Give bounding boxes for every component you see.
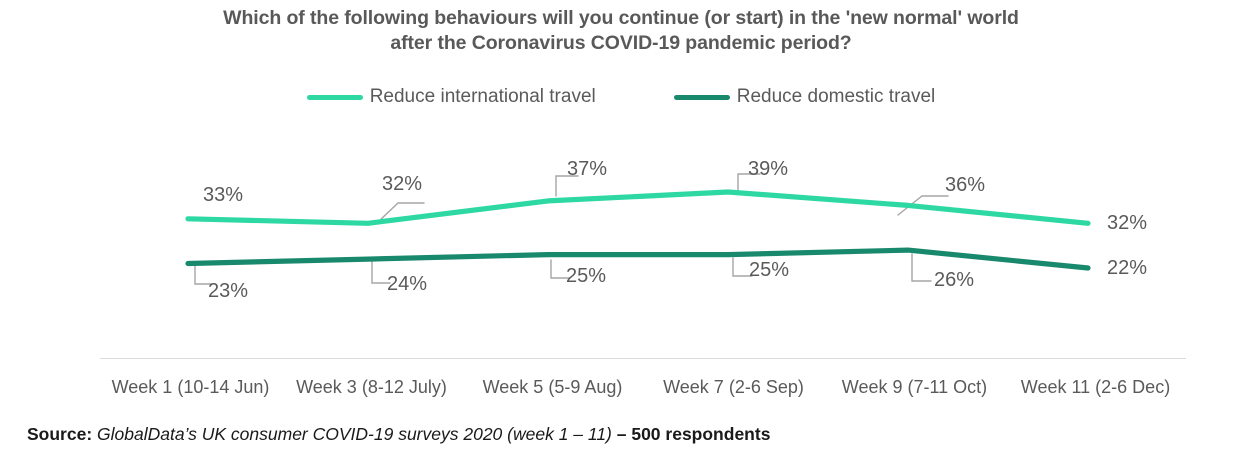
source-note: Source: GlobalData’s UK consumer COVID-1… xyxy=(27,422,770,446)
category-label-2: Week 5 (5-9 Aug) xyxy=(462,374,643,400)
legend-swatch-domestic xyxy=(674,95,730,100)
chart-root: Which of the following behaviours will y… xyxy=(0,0,1242,460)
data-label-domestic-3: 25% xyxy=(749,258,789,282)
data-label-international-0: 33% xyxy=(203,183,243,207)
axis-divider xyxy=(100,358,1186,359)
leader-line xyxy=(912,254,931,281)
legend-item-domestic[interactable]: Reduce domestic travel xyxy=(674,86,936,108)
category-label-1: Week 3 (8-12 July) xyxy=(281,374,462,400)
data-label-international-3: 39% xyxy=(748,157,788,181)
leader-line xyxy=(898,196,948,215)
category-axis: Week 1 (10-14 Jun)Week 3 (8-12 July)Week… xyxy=(100,374,1186,400)
legend-label-domestic: Reduce domestic travel xyxy=(737,86,936,108)
chart-title-line-2: after the Coronavirus COVID-19 pandemic … xyxy=(130,31,1112,56)
legend-label-international: Reduce international travel xyxy=(370,86,596,108)
category-label-3: Week 7 (2-6 Sep) xyxy=(643,374,824,400)
data-label-international-4: 36% xyxy=(945,173,985,197)
category-label-4: Week 9 (7-11 Oct) xyxy=(824,374,1005,400)
data-label-domestic-2: 25% xyxy=(566,264,606,288)
source-body: GlobalData’s UK consumer COVID-19 survey… xyxy=(92,424,617,444)
data-label-domestic-0: 23% xyxy=(208,279,248,303)
data-label-international-1: 32% xyxy=(382,172,422,196)
chart-legend: Reduce international travel Reduce domes… xyxy=(0,86,1242,108)
source-tail: – 500 respondents xyxy=(617,424,771,444)
chart-title: Which of the following behaviours will y… xyxy=(130,6,1112,56)
legend-item-international[interactable]: Reduce international travel xyxy=(307,86,596,108)
legend-swatch-international xyxy=(307,95,363,100)
data-label-international-5: 32% xyxy=(1107,211,1147,235)
data-label-domestic-4: 26% xyxy=(934,268,974,292)
source-label: Source: xyxy=(27,424,92,444)
leader-line xyxy=(378,203,424,222)
data-label-international-2: 37% xyxy=(567,157,607,181)
data-label-domestic-5: 22% xyxy=(1107,256,1147,280)
data-label-domestic-1: 24% xyxy=(387,272,427,296)
series-line-domestic xyxy=(188,250,1088,268)
category-label-0: Week 1 (10-14 Jun) xyxy=(100,374,281,400)
chart-title-line-1: Which of the following behaviours will y… xyxy=(223,7,1019,29)
category-label-5: Week 11 (2-6 Dec) xyxy=(1005,374,1186,400)
